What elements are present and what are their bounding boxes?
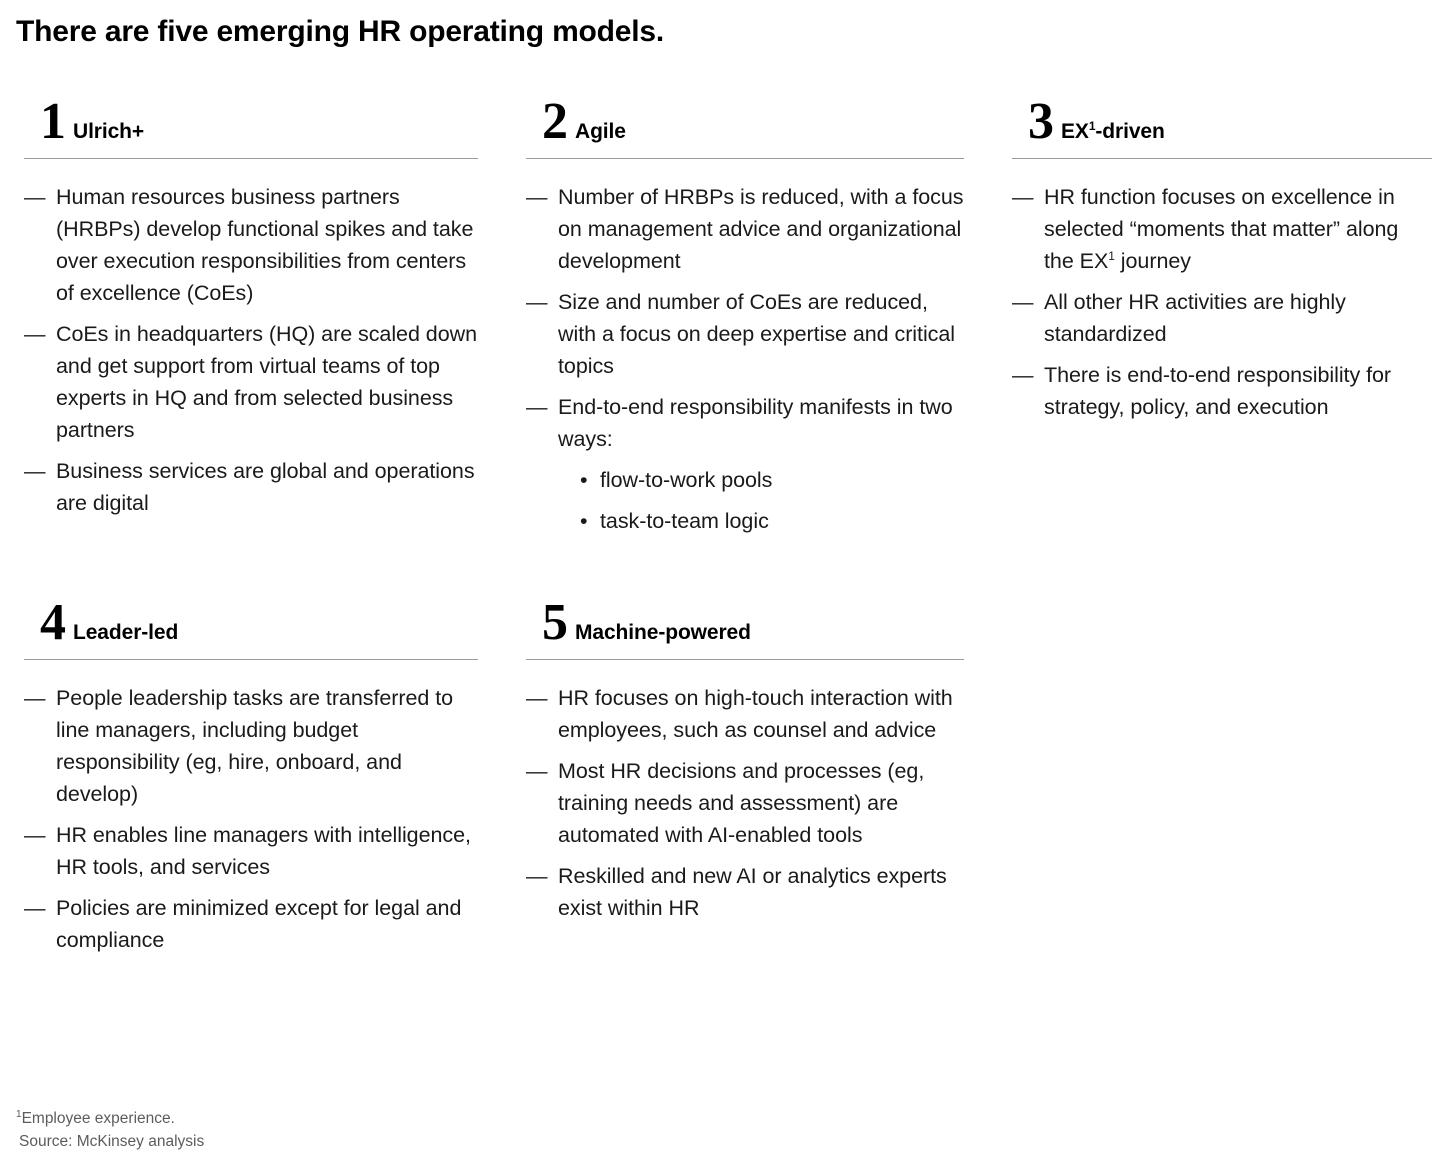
footnote-marker: 1 xyxy=(1108,249,1115,263)
dash-icon: — xyxy=(1012,359,1036,391)
dash-icon: — xyxy=(526,860,550,892)
list-item: —Number of HRBPs is reduced, with a focu… xyxy=(526,181,964,277)
list-item-text: HR enables line managers with intelligen… xyxy=(56,823,471,879)
list-item: —All other HR activities are highly stan… xyxy=(1012,286,1432,350)
list-item-text: HR focuses on high-touch interaction wit… xyxy=(558,686,953,742)
card-header: 2 Agile xyxy=(526,96,964,158)
list-item-text: Reskilled and new AI or analytics expert… xyxy=(558,864,947,920)
card-header: 1 Ulrich+ xyxy=(24,96,478,158)
footnote-note: 1Employee experience. xyxy=(16,1107,204,1130)
card-header: 4 Leader-led xyxy=(24,597,478,659)
card-title: Machine-powered xyxy=(575,621,751,645)
dash-icon: — xyxy=(24,682,48,714)
bullet-list: —Number of HRBPs is reduced, with a focu… xyxy=(526,159,964,537)
dot-icon: • xyxy=(580,505,587,537)
card-row-1: 1 Ulrich+ —Human resources business part… xyxy=(0,96,1456,537)
sub-bullet-list: •flow-to-work pools •task-to-team logic xyxy=(558,464,964,537)
card-title: Ulrich+ xyxy=(73,120,144,144)
list-item: —People leadership tasks are transferred… xyxy=(24,682,478,810)
sub-list-item-text: flow-to-work pools xyxy=(600,468,772,492)
bullet-list: —People leadership tasks are transferred… xyxy=(24,660,478,956)
list-item-text: People leadership tasks are transferred … xyxy=(56,686,453,806)
list-item: —HR function focuses on excellence in se… xyxy=(1012,181,1432,277)
list-item-text: End-to-end responsibility manifests in t… xyxy=(558,395,953,451)
footnote-note-text: Employee experience. xyxy=(22,1110,175,1127)
list-item-text-tail: journey xyxy=(1115,249,1191,273)
list-item: —End-to-end responsibility manifests in … xyxy=(526,391,964,537)
dash-icon: — xyxy=(526,286,550,318)
bullet-list: —HR focuses on high-touch interaction wi… xyxy=(526,660,964,924)
dash-icon: — xyxy=(1012,286,1036,318)
dash-icon: — xyxy=(526,391,550,423)
card-title: EX1-driven xyxy=(1061,120,1165,144)
card-number: 5 xyxy=(542,597,568,649)
footnotes: 1Employee experience. Source: McKinsey a… xyxy=(16,1107,204,1153)
dash-icon: — xyxy=(24,181,48,213)
list-item-text: Business services are global and operati… xyxy=(56,459,475,515)
card-grid: 1 Ulrich+ —Human resources business part… xyxy=(0,96,1456,956)
sub-list-item: •flow-to-work pools xyxy=(580,464,964,496)
dash-icon: — xyxy=(526,755,550,787)
list-item-text: Number of HRBPs is reduced, with a focus… xyxy=(558,185,963,273)
card-title-text: EX xyxy=(1061,120,1089,143)
sub-list-item-text: task-to-team logic xyxy=(600,509,769,533)
list-item-text: All other HR activities are highly stand… xyxy=(1044,290,1346,346)
bullet-list: —HR function focuses on excellence in se… xyxy=(1012,159,1432,423)
dash-icon: — xyxy=(526,682,550,714)
card-number: 2 xyxy=(542,96,568,148)
list-item: —Most HR decisions and processes (eg, tr… xyxy=(526,755,964,851)
exhibit-container: There are five emerging HR operating mod… xyxy=(0,0,1456,1175)
card-number: 4 xyxy=(40,597,66,649)
list-item-text: Human resources business partners (HRBPs… xyxy=(56,185,473,305)
list-item: —HR enables line managers with intellige… xyxy=(24,819,478,883)
list-item: —CoEs in headquarters (HQ) are scaled do… xyxy=(24,318,478,446)
dash-icon: — xyxy=(526,181,550,213)
footnote-source: Source: McKinsey analysis xyxy=(16,1130,204,1153)
list-item: —There is end-to-end responsibility for … xyxy=(1012,359,1432,423)
card-ex-driven: 3 EX1-driven —HR function focuses on exc… xyxy=(988,96,1456,423)
dash-icon: — xyxy=(24,455,48,487)
card-number: 1 xyxy=(40,96,66,148)
list-item-text: CoEs in headquarters (HQ) are scaled dow… xyxy=(56,322,477,442)
dash-icon: — xyxy=(24,892,48,924)
card-leader-led: 4 Leader-led —People leadership tasks ar… xyxy=(0,597,502,956)
card-machine-powered: 5 Machine-powered —HR focuses on high-to… xyxy=(502,597,988,924)
page-title: There are five emerging HR operating mod… xyxy=(16,14,664,50)
card-title-tail: -driven xyxy=(1095,120,1164,143)
card-row-2: 4 Leader-led —People leadership tasks ar… xyxy=(0,597,1456,956)
card-title: Leader-led xyxy=(73,621,178,645)
list-item: —Human resources business partners (HRBP… xyxy=(24,181,478,309)
list-item: —Business services are global and operat… xyxy=(24,455,478,519)
list-item-text: Most HR decisions and processes (eg, tra… xyxy=(558,759,924,847)
card-header: 3 EX1-driven xyxy=(1012,96,1432,158)
list-item-text: There is end-to-end responsibility for s… xyxy=(1044,363,1391,419)
list-item: —Reskilled and new AI or analytics exper… xyxy=(526,860,964,924)
dash-icon: — xyxy=(1012,181,1036,213)
bullet-list: —Human resources business partners (HRBP… xyxy=(24,159,478,519)
list-item-text: HR function focuses on excellence in sel… xyxy=(1044,185,1398,273)
card-header: 5 Machine-powered xyxy=(526,597,964,659)
list-item-text: Policies are minimized except for legal … xyxy=(56,896,461,952)
list-item: —Size and number of CoEs are reduced, wi… xyxy=(526,286,964,382)
list-item: —HR focuses on high-touch interaction wi… xyxy=(526,682,964,746)
card-title: Agile xyxy=(575,120,626,144)
dash-icon: — xyxy=(24,819,48,851)
dash-icon: — xyxy=(24,318,48,350)
list-item: —Policies are minimized except for legal… xyxy=(24,892,478,956)
dot-icon: • xyxy=(580,464,587,496)
card-ulrich-plus: 1 Ulrich+ —Human resources business part… xyxy=(0,96,502,519)
card-number: 3 xyxy=(1028,96,1054,148)
list-item-text: Size and number of CoEs are reduced, wit… xyxy=(558,290,955,378)
sub-list-item: •task-to-team logic xyxy=(580,505,964,537)
card-agile: 2 Agile —Number of HRBPs is reduced, wit… xyxy=(502,96,988,537)
